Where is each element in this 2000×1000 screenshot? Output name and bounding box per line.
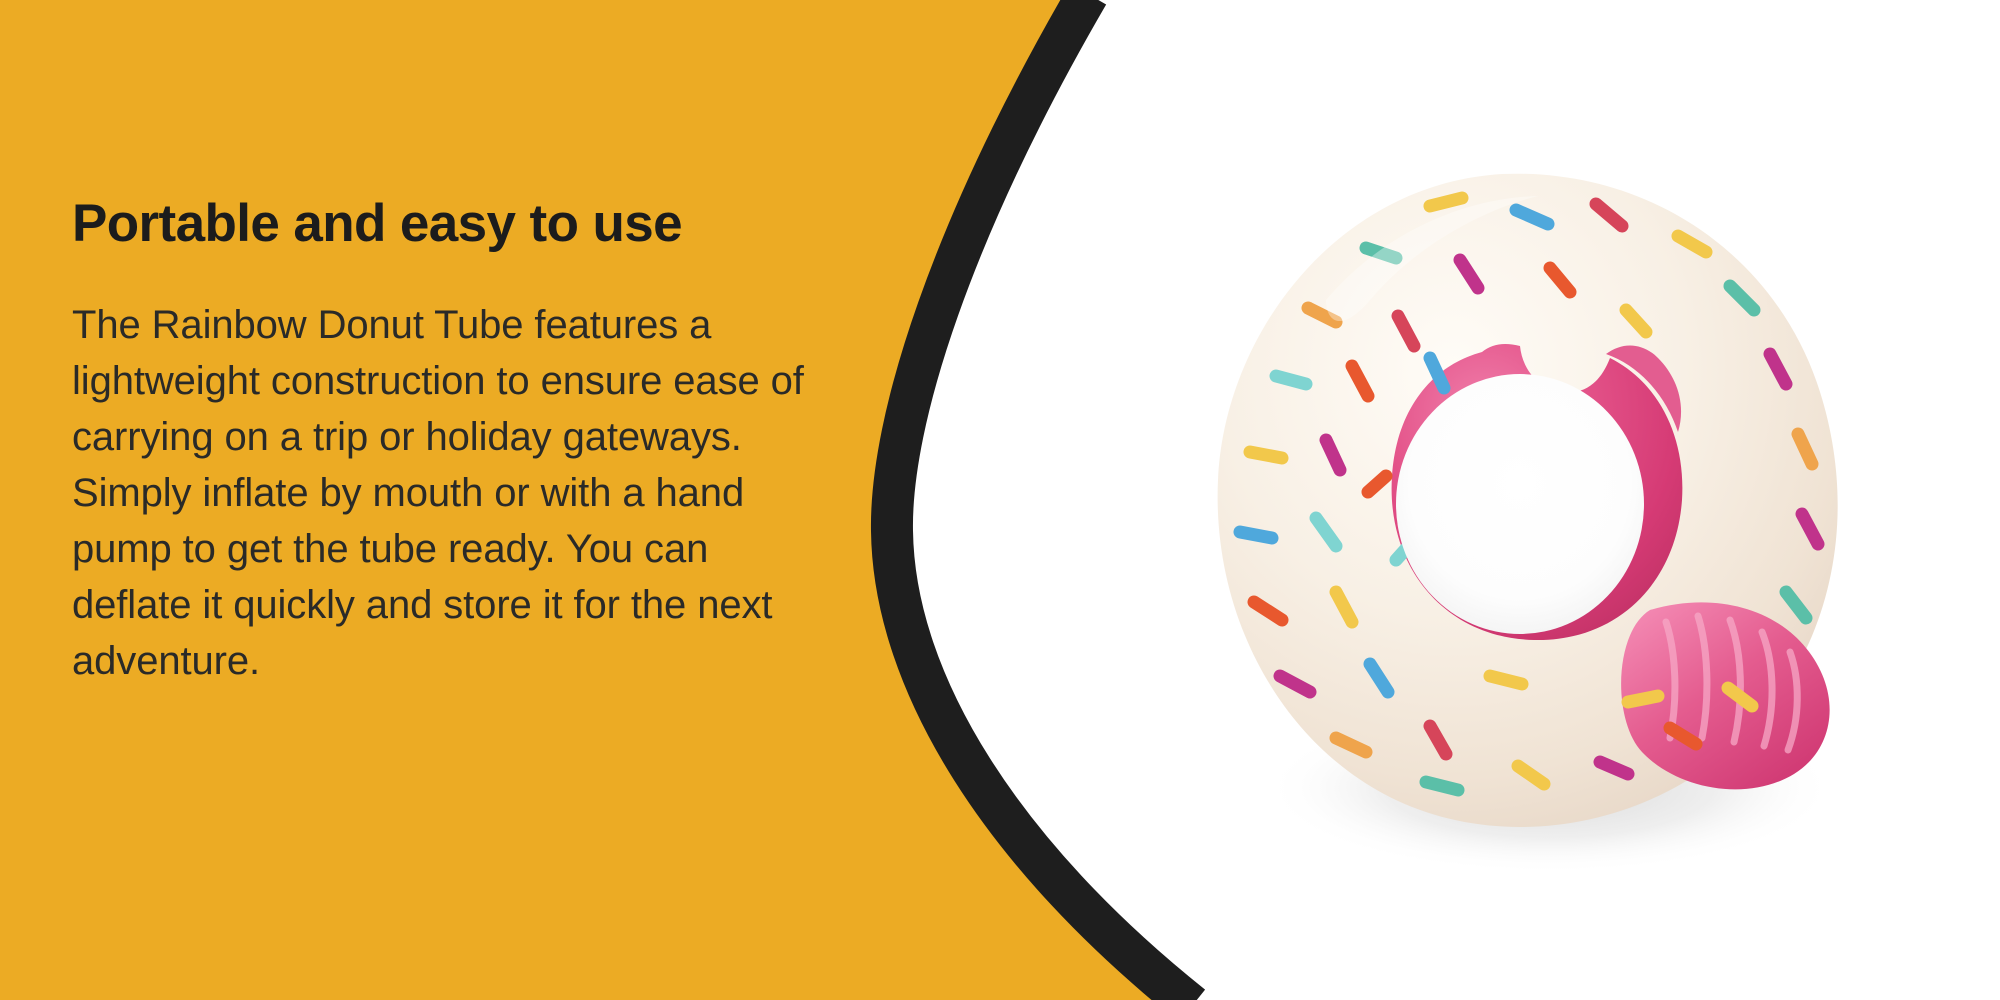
slide-canvas: Portable and easy to use The Rainbow Don… xyxy=(0,0,2000,1000)
page-title: Portable and easy to use xyxy=(72,196,862,251)
product-image xyxy=(1130,140,1890,870)
donut-float-illustration xyxy=(1130,140,1890,870)
donut-hole xyxy=(1396,374,1644,634)
body-paragraph: The Rainbow Donut Tube features a lightw… xyxy=(72,297,832,689)
text-column: Portable and easy to use The Rainbow Don… xyxy=(72,196,862,689)
